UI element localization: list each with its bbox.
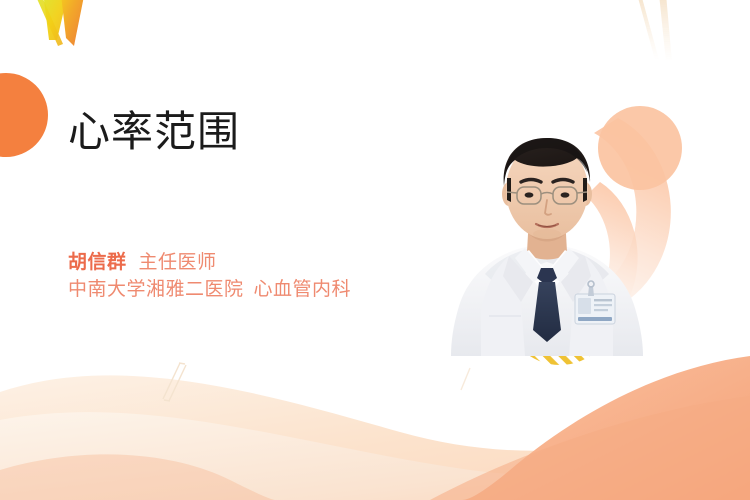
- top-right-hairlines: [637, 0, 672, 62]
- bottom-waves: [0, 356, 750, 500]
- orange-circle: [0, 73, 48, 157]
- speaker-block: 胡信群主任医师 中南大学湘雅二医院心血管内科: [68, 250, 488, 304]
- doctor-portrait: [437, 116, 657, 356]
- title-block: 心率范围: [68, 108, 468, 157]
- wave-light: [0, 375, 750, 500]
- speaker-department: 心血管内科: [254, 279, 352, 300]
- speaker-affiliation: 中南大学湘雅二医院: [68, 279, 244, 300]
- wave-mid: [0, 412, 750, 500]
- wave-strong: [462, 356, 750, 500]
- slide-canvas: 心率范围 胡信群主任医师 中南大学湘雅二医院心血管内科: [0, 0, 750, 500]
- speaker-title: 主任医师: [139, 252, 217, 273]
- speaker-affiliation-line: 中南大学湘雅二医院心血管内科: [68, 277, 488, 304]
- speaker-name-line: 胡信群主任医师: [68, 250, 488, 277]
- wave-strong-lower: [430, 396, 750, 500]
- page-title: 心率范围: [68, 108, 468, 157]
- top-left-stripes: [34, 0, 86, 46]
- wave-strong-left-lobe: [0, 454, 276, 500]
- speaker-name: 胡信群: [68, 252, 127, 273]
- wave-hairlines: [163, 363, 470, 401]
